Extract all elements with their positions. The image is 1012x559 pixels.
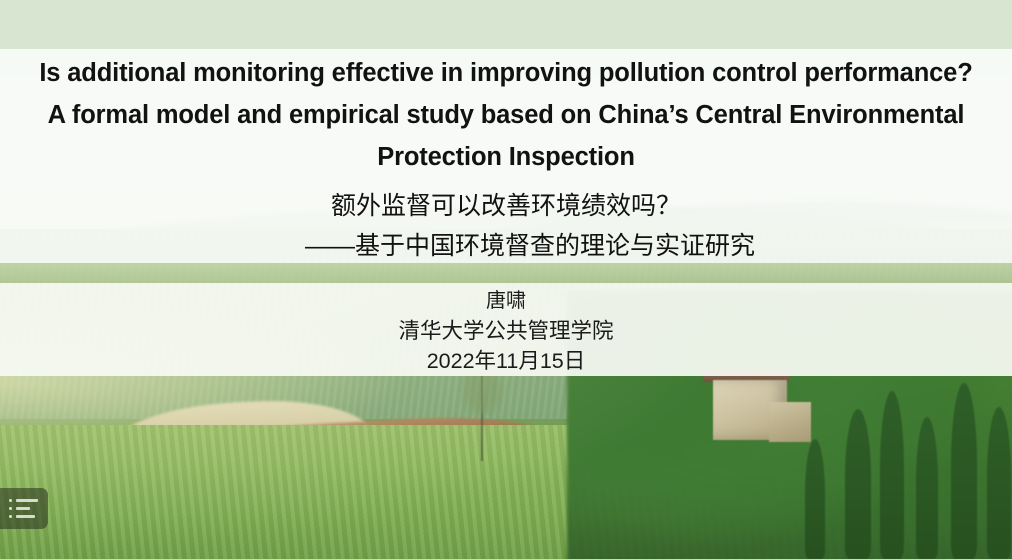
list-line [16, 499, 38, 502]
list-menu-row [9, 515, 48, 518]
slide-subtitle-chinese: 额外监督可以改善环境绩效吗？ ——基于中国环境督查的理论与实证研究 [0, 186, 1012, 266]
subtitle-line-2: ——基于中国环境督查的理论与实证研究 [0, 226, 1012, 266]
author-affiliation: 清华大学公共管理学院 [0, 316, 1012, 346]
presentation-slide: Is additional monitoring effective in im… [0, 0, 1012, 559]
author-name: 唐啸 [0, 286, 1012, 316]
list-bullet-icon [9, 507, 12, 510]
list-line [16, 507, 30, 510]
list-bullet-icon [9, 499, 12, 502]
presentation-date: 2022年11月15日 [0, 346, 1012, 376]
slide-title-english: Is additional monitoring effective in im… [0, 52, 1012, 178]
author-block: 唐啸 清华大学公共管理学院 2022年11月15日 [0, 286, 1012, 376]
list-menu-row [9, 507, 48, 510]
list-line [16, 515, 35, 518]
subtitle-line-1: 额外监督可以改善环境绩效吗？ [331, 192, 681, 220]
list-menu-icon[interactable] [0, 488, 48, 529]
list-menu-row [9, 499, 48, 502]
title-line-1: Is additional monitoring effective in im… [14, 52, 998, 94]
title-line-3: Protection Inspection [14, 136, 998, 178]
slide-content: Is additional monitoring effective in im… [0, 0, 1012, 559]
list-bullet-icon [9, 515, 12, 518]
title-line-2: A formal model and empirical study based… [14, 94, 998, 136]
